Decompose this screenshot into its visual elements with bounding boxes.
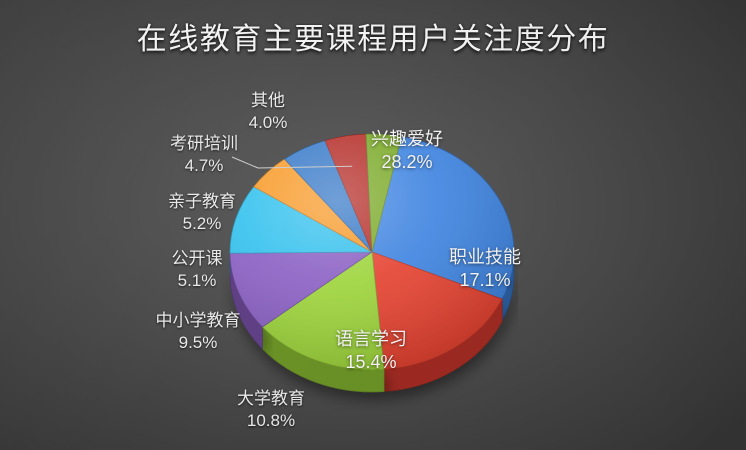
slice-label-kaoyanpeixun: 考研培训 4.7% <box>134 133 274 177</box>
slice-label-pct: 5.1% <box>137 270 257 292</box>
slice-label-pct: 9.5% <box>118 332 278 354</box>
slice-label-text: 公开课 <box>172 249 223 268</box>
slice-label-pct: 10.8% <box>196 410 346 432</box>
slice-label-text: 其他 <box>251 91 285 110</box>
slice-label-daxuejiaoyu: 大学教育 10.8% <box>196 388 346 432</box>
slice-label-pct: 4.0% <box>213 112 323 134</box>
slice-label-text: 大学教育 <box>237 389 305 408</box>
pie-chart-graphic <box>0 0 746 450</box>
slice-label-pct: 5.2% <box>142 213 262 235</box>
slice-label-qita: 其他 4.0% <box>213 90 323 134</box>
slice-label-qinzijiaoyu: 亲子教育 5.2% <box>142 191 262 235</box>
slice-label-text: 考研培训 <box>170 134 238 153</box>
slice-label-zhongxiaoxuejiaoyu: 中小学教育 9.5% <box>118 310 278 354</box>
slice-label-pct: 4.7% <box>134 155 274 177</box>
slice-label-text: 亲子教育 <box>168 192 236 211</box>
slice-label-gongkaike: 公开课 5.1% <box>137 248 257 292</box>
chart-canvas: 在线教育主要课程用户关注度分布 兴趣爱好 28.2% 职业技能 17.1% 语言… <box>0 0 746 450</box>
slice-label-text: 中小学教育 <box>156 311 241 330</box>
